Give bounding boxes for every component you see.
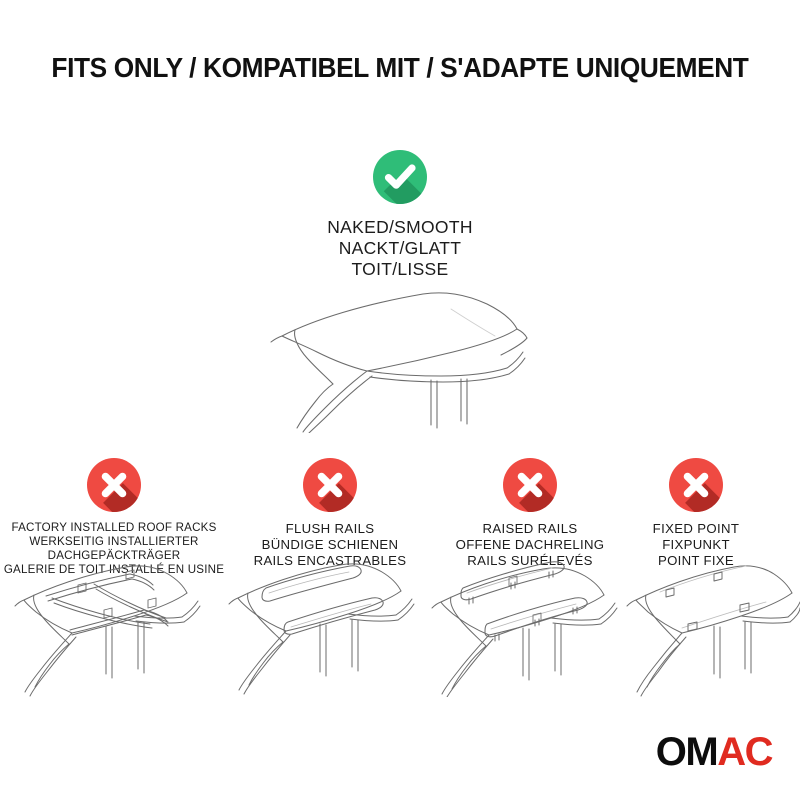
logo-text-om: OM [656, 732, 717, 772]
cross-glyph [669, 458, 723, 512]
compatible-label-en: NAKED/SMOOTH [327, 217, 473, 238]
green-check-circle-icon [373, 150, 427, 204]
omac-logo: OM AC [656, 732, 772, 772]
compatible-label-fr: TOIT/LISSE [327, 259, 473, 280]
cross-glyph [303, 458, 357, 512]
cross-glyph [503, 458, 557, 512]
item-label-line-1: FACTORY INSTALLED ROOF RACKS [3, 521, 225, 535]
compatible-labels: NAKED/SMOOTH NACKT/GLATT TOIT/LISSE [327, 217, 473, 280]
cross-glyph [87, 458, 141, 512]
car-roof-flush-rails-svg [222, 552, 422, 697]
car-roof-flush-rails-illustration [222, 552, 422, 697]
compatible-label-de: NACKT/GLATT [327, 238, 473, 259]
page-title: FITS ONLY / KOMPATIBEL MIT / S'ADAPTE UN… [0, 52, 800, 84]
item-label-line-2: WERKSEITIG INSTALLIERTER [3, 535, 225, 549]
car-roof-naked-smooth-illustration [255, 288, 545, 433]
item-label-line-1: RAISED RAILS [423, 521, 637, 537]
check-glyph [373, 150, 427, 204]
compatible-roof-group: NAKED/SMOOTH NACKT/GLATT TOIT/LISSE [0, 150, 800, 433]
car-roof-factory-racks-illustration [8, 552, 213, 697]
logo-text-ac: AC [717, 732, 772, 772]
incompatible-items-row: FACTORY INSTALLED ROOF RACKS WERKSEITIG … [0, 458, 800, 558]
item-label-line-1: FIXED POINT [620, 521, 772, 537]
car-roof-raised-rails-svg [425, 552, 625, 697]
car-roof-raised-rails-illustration [425, 552, 625, 697]
item-label-line-2: FIXPUNKT [620, 537, 772, 553]
item-label-line-1: FLUSH RAILS [222, 521, 438, 537]
car-roof-naked-smooth-svg [255, 288, 545, 433]
page-title-text: FITS ONLY / KOMPATIBEL MIT / S'ADAPTE UN… [51, 52, 748, 84]
item-label-line-2: BÜNDIGE SCHIENEN [222, 537, 438, 553]
car-roof-factory-racks-svg [8, 552, 213, 697]
red-cross-circle-icon [503, 458, 557, 512]
item-label-line-2: OFFENE DACHRELING [423, 537, 637, 553]
red-cross-circle-icon [669, 458, 723, 512]
red-cross-circle-icon [303, 458, 357, 512]
red-cross-circle-icon [87, 458, 141, 512]
incompatible-illustrations-row [0, 552, 800, 702]
car-roof-fixed-point-illustration [622, 552, 800, 697]
car-roof-fixed-point-svg [622, 552, 800, 697]
